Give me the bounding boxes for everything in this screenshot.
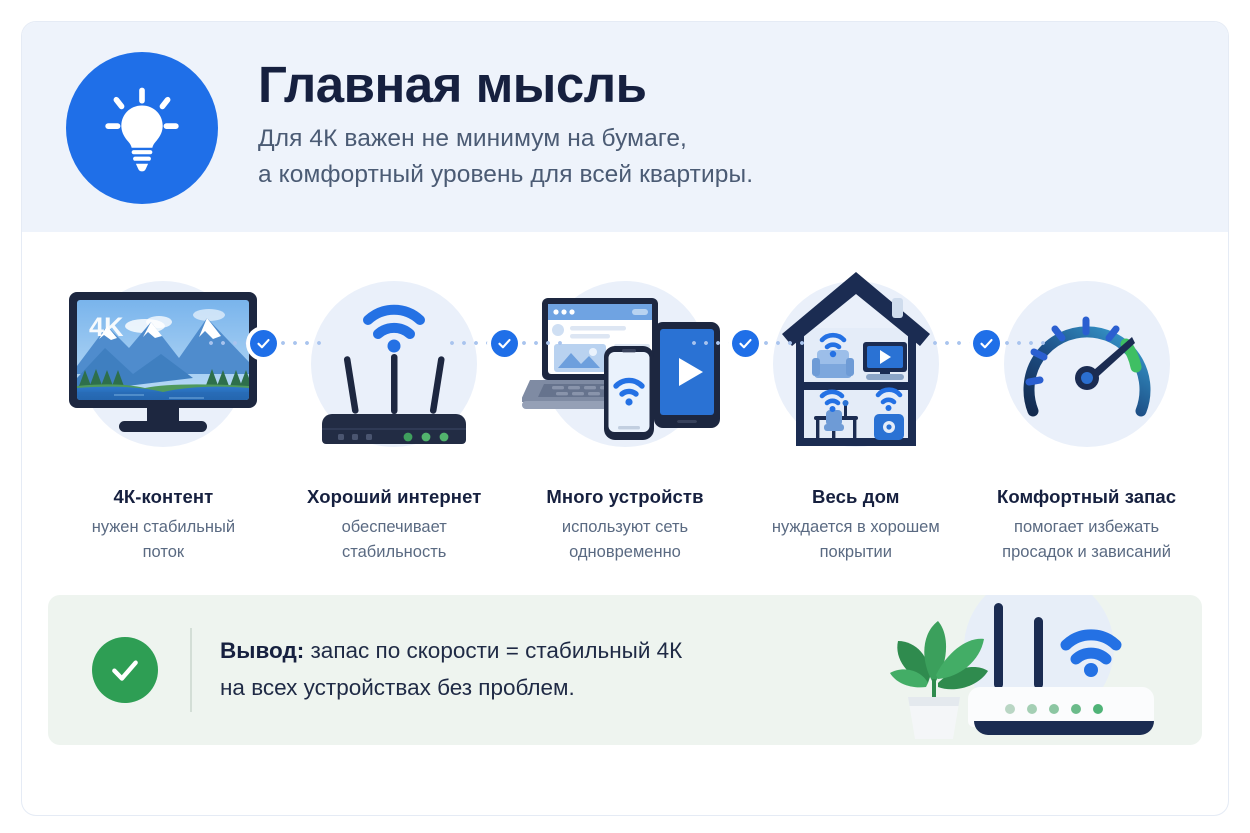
step-art-wrap: [510, 266, 741, 462]
step-desc-line1: используют сеть: [562, 518, 688, 536]
step-desc-line1: нуждается в хорошем: [772, 518, 940, 536]
step-desc: помогает избежать просадок и зависаний: [1002, 515, 1171, 565]
steps-row: 4K 4К-контент нужен стабильный поток: [22, 232, 1228, 565]
header-text-block: Главная мысль Для 4К важен не минимум на…: [258, 58, 753, 196]
step-desc-line2: одновременно: [569, 543, 681, 561]
conclusion-text: Вывод: запас по скорости = стабильный 4К…: [220, 633, 682, 706]
multi-devices-icon: [522, 282, 728, 447]
conclusion-text-line1: запас по скорости = стабильный 4К: [304, 638, 682, 663]
connector-3: [688, 330, 804, 356]
check-circle-icon: [732, 330, 759, 357]
divider: [190, 628, 192, 712]
step-title: Много устройств: [546, 486, 703, 508]
conclusion-art: [868, 597, 1168, 745]
wall-tv-icon: [863, 342, 907, 380]
router-box-icon: [874, 414, 904, 440]
connector-4: [929, 330, 1045, 356]
step-whole-house: Весь дом нуждается в хорошем покрытии: [740, 266, 971, 565]
step-4k-content: 4K 4К-контент нужен стабильный поток: [48, 266, 279, 565]
check-circle-icon: [491, 330, 518, 357]
check-circle-icon: [92, 637, 158, 703]
lightbulb-icon: [95, 81, 189, 175]
step-desc: обеспечивает стабильность: [342, 515, 447, 565]
step-desc-line1: помогает избежать: [1014, 518, 1159, 536]
step-desc-line2: стабильность: [342, 543, 446, 561]
wifi-router-icon: [310, 282, 478, 447]
check-circle-icon: [973, 330, 1000, 357]
step-art-wrap: [971, 266, 1202, 462]
connector-2: [446, 330, 562, 356]
phone-icon: [604, 346, 654, 440]
step-desc-line2: просадок и зависаний: [1002, 543, 1171, 561]
header-band: Главная мысль Для 4К важен не минимум на…: [22, 22, 1228, 232]
step-many-devices: Много устройств используют сеть одноврем…: [510, 266, 741, 565]
tv-4k-label: 4K: [89, 312, 124, 342]
conclusion-text-line2: на всех устройствах без проблем.: [220, 675, 575, 700]
step-desc-line2: поток: [143, 543, 185, 561]
conclusion-banner: Вывод: запас по скорости = стабильный 4К…: [48, 595, 1202, 745]
header-subtitle-line2: а комфортный уровень для всей квартиры.: [258, 157, 753, 193]
header-subtitle-line1: Для 4К важен не минимум на бумаге,: [258, 121, 753, 157]
step-title: 4К-контент: [113, 486, 213, 508]
step-title: Хороший интернет: [307, 486, 481, 508]
step-desc-line1: нужен стабильный: [92, 518, 235, 536]
connector-1: [205, 330, 321, 356]
white-router-icon: [968, 603, 1154, 735]
step-desc-line1: обеспечивает: [342, 518, 447, 536]
step-art-wrap: [279, 266, 510, 462]
step-desc: нужен стабильный поток: [92, 515, 235, 565]
house-coverage-icon: [770, 266, 942, 462]
step-desc: нуждается в хорошем покрытии: [772, 515, 940, 565]
step-art-wrap: [740, 266, 971, 462]
lightbulb-badge: [66, 52, 218, 204]
conclusion-label: Вывод:: [220, 638, 304, 663]
step-desc-line2: покрытии: [820, 543, 892, 561]
step-good-internet: Хороший интернет обеспечивает стабильнос…: [279, 266, 510, 565]
wifi-signal-icon: [1066, 634, 1116, 658]
tv-4k-icon: 4K: [59, 282, 267, 447]
infographic-card: Главная мысль Для 4К важен не минимум на…: [22, 22, 1228, 815]
page-title: Главная мысль: [258, 58, 753, 111]
step-desc: используют сеть одновременно: [562, 515, 688, 565]
step-art-wrap: 4K: [48, 266, 279, 462]
infographic-canvas: Главная мысль Для 4К важен не минимум на…: [0, 0, 1250, 833]
check-circle-icon: [250, 330, 277, 357]
speedometer-icon: [1003, 289, 1171, 439]
step-title: Комфортный запас: [997, 486, 1176, 508]
step-title: Весь дом: [812, 486, 900, 508]
step-comfort-margin: Комфортный запас помогает избежать проса…: [971, 266, 1202, 565]
